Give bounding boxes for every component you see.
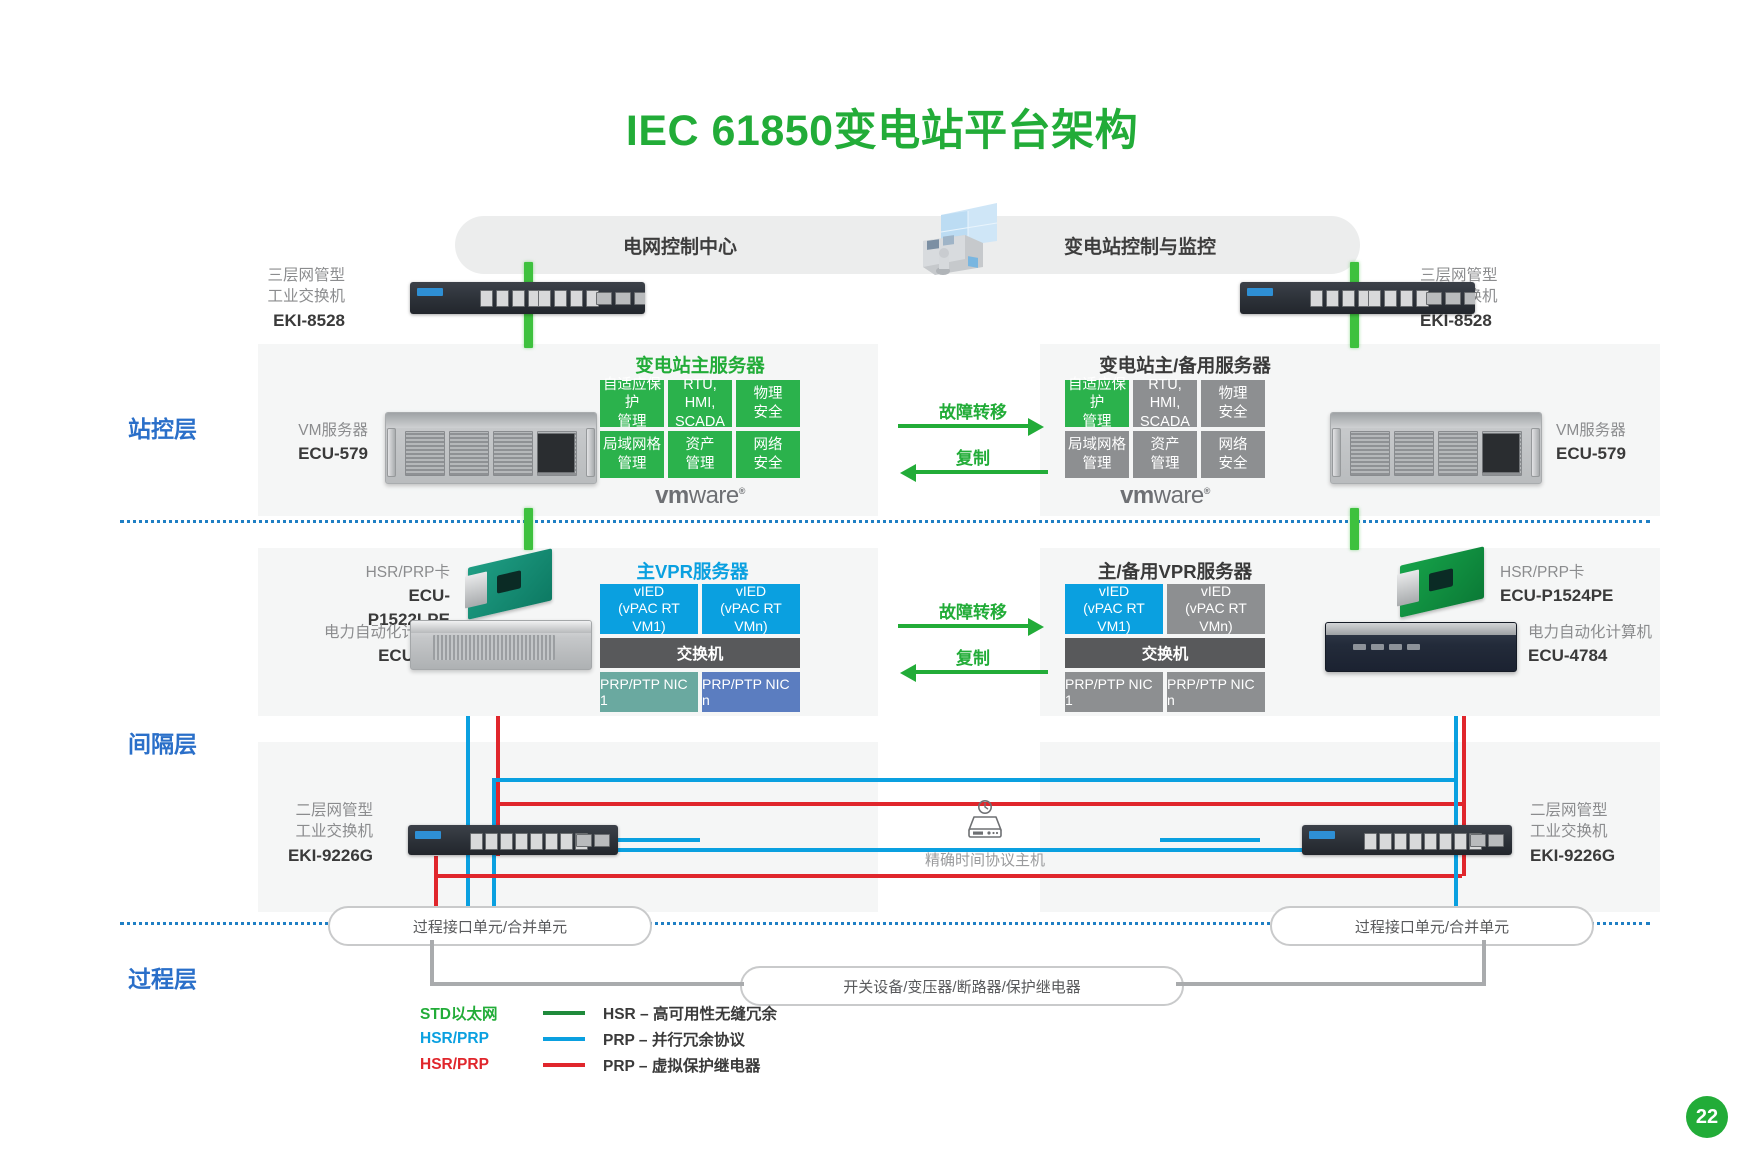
vm-server-right-model: ECU-579 bbox=[1556, 442, 1676, 465]
hsr-card-right-model: ECU-P1524PE bbox=[1500, 584, 1660, 607]
vm-server-left-model: ECU-579 bbox=[258, 442, 368, 465]
app-tile: RTU, HMI,SCADA bbox=[668, 380, 732, 427]
std-link-right-bay bbox=[1350, 508, 1359, 550]
vmware-light: ware bbox=[689, 482, 739, 509]
control-room-illustration bbox=[905, 195, 1015, 285]
server-control-panel bbox=[1482, 433, 1520, 474]
server-ecu-4784 bbox=[1325, 622, 1517, 672]
station-arrow-replicate-head bbox=[900, 464, 916, 482]
port-group-sfp bbox=[1470, 834, 1504, 847]
page-title: IEC 61850变电站平台架构 bbox=[0, 96, 1764, 158]
rack-ear-left bbox=[1332, 428, 1341, 477]
l2-switch-left-line1: 二层网管型 bbox=[295, 802, 373, 819]
vm-server-right-line1: VM服务器 bbox=[1556, 422, 1626, 439]
port-group-sfp bbox=[596, 292, 645, 305]
l2-switch-left-line2: 工业交换机 bbox=[295, 823, 373, 840]
vpr-nic-row-left: PRP/PTP NIC 1 PRP/PTP NIC n bbox=[600, 672, 800, 712]
l3-switch-left-line1: 三层网管型 bbox=[267, 267, 345, 284]
port-group-sfp bbox=[1426, 292, 1475, 305]
rack-ear-left bbox=[387, 428, 396, 477]
nic-card-ecu-p1522lpe bbox=[468, 558, 552, 610]
layer-label-bay: 间隔层 bbox=[128, 725, 258, 759]
port-group-a bbox=[1310, 290, 1371, 307]
prp-ptp-nic-n-left: PRP/PTP NIC n bbox=[702, 672, 800, 712]
vmware-logo-left: vmware® bbox=[600, 482, 800, 510]
vpr-stack-right: vIED(vPAC RT VM1) vIED(vPAC RT VMn) 交换机 … bbox=[1065, 584, 1265, 712]
vmware-light: ware bbox=[1154, 482, 1204, 509]
legend-description: HSR – 高可用性无缝冗余 bbox=[603, 1002, 777, 1024]
station-arrow-label-failover: 故障转移 bbox=[898, 398, 1048, 423]
legend-row: STD以太网HSR – 高可用性无缝冗余 bbox=[420, 1000, 777, 1026]
l2-switch-right-model: EKI-9226G bbox=[1530, 844, 1670, 867]
legend-tag: HSR/PRP bbox=[420, 1056, 525, 1074]
vmware-logo-right: vmware® bbox=[1065, 482, 1265, 510]
station-left-group-title: 变电站主服务器 bbox=[600, 352, 800, 378]
pill-connector-right-h bbox=[1176, 982, 1486, 986]
bay-left-group-title: 主VPR服务器 bbox=[585, 558, 800, 584]
pill-connector-left-v bbox=[430, 940, 434, 984]
ptp-host-label: 精确时间协议主机 bbox=[925, 849, 1045, 870]
pill-process-interface-unit-right: 过程接口单元/合并单元 bbox=[1270, 906, 1594, 946]
server-faceplate bbox=[1331, 413, 1541, 428]
app-tile: RTU, HMI,SCADA bbox=[1133, 380, 1197, 427]
label-right-vm-server: VM服务器 ECU-579 bbox=[1556, 420, 1676, 466]
vmware-bold: vm bbox=[1120, 482, 1154, 509]
server-control-panel bbox=[537, 433, 575, 474]
prp-line-blue-stub-right bbox=[1160, 838, 1260, 842]
station-arrow-replicate-line bbox=[916, 470, 1048, 474]
ventilation-grill bbox=[433, 635, 555, 660]
legend-color-swatch bbox=[543, 1063, 585, 1067]
rack-ear-right bbox=[586, 428, 595, 477]
pac-right-line1: 电力自动化计算机 bbox=[1528, 624, 1652, 641]
brand-mark bbox=[417, 288, 443, 296]
legend-description: PRP – 并行冗余协议 bbox=[603, 1028, 745, 1050]
brand-mark bbox=[415, 831, 441, 839]
app-tile: 网络安全 bbox=[736, 431, 800, 478]
app-tile: 网络安全 bbox=[1201, 431, 1265, 478]
port-group-a bbox=[470, 833, 588, 850]
bay-arrow-label-failover: 故障转移 bbox=[898, 598, 1048, 623]
pill-connector-right-v bbox=[1482, 940, 1486, 984]
port-group-b bbox=[538, 290, 599, 307]
l2-switch-left-model: EKI-9226G bbox=[258, 844, 373, 867]
prp-ptp-nic-n-right: PRP/PTP NIC n bbox=[1167, 672, 1265, 712]
switch-eki-8528-right bbox=[1240, 282, 1475, 314]
pill-switchgear-transformer: 开关设备/变压器/断路器/保护继电器 bbox=[740, 966, 1184, 1006]
port-group-a bbox=[480, 290, 541, 307]
banner-label-grid-control-center: 电网控制中心 bbox=[560, 232, 800, 259]
vied-vmn-right: vIED(vPAC RT VMn) bbox=[1167, 584, 1265, 634]
slot-bracket bbox=[1397, 569, 1419, 606]
legend-row: HSR/PRPPRP – 虚拟保护继电器 bbox=[420, 1052, 777, 1078]
server-ecu-479 bbox=[410, 620, 592, 670]
vied-vm1-right: vIED(vPAC RT VM1) bbox=[1065, 584, 1163, 634]
prp-ptp-nic-1-left: PRP/PTP NIC 1 bbox=[600, 672, 698, 712]
legend-color-swatch bbox=[543, 1037, 585, 1041]
bay-arrow-replicate-head bbox=[900, 664, 916, 682]
app-tile: 自适应保护管理 bbox=[600, 380, 664, 427]
server-lid bbox=[411, 621, 591, 633]
prp-line-right-blue-vertical bbox=[1454, 716, 1458, 928]
prp-line-red-bottom-span bbox=[434, 874, 1462, 878]
vied-vm1-left: vIED(vPAC RT VM1) bbox=[600, 584, 698, 634]
hsr-card-left-line1: HSR/PRP卡 bbox=[366, 564, 450, 581]
slot-bracket bbox=[465, 571, 487, 608]
brand-mark bbox=[1247, 288, 1273, 296]
label-left-l2-switch: 二层网管型 工业交换机 EKI-9226G bbox=[258, 800, 373, 867]
legend: STD以太网HSR – 高可用性无缝冗余HSR/PRPPRP – 并行冗余协议H… bbox=[420, 1000, 777, 1078]
label-left-vm-server: VM服务器 ECU-579 bbox=[258, 420, 368, 466]
banner-label-substation-control: 变电站控制与监控 bbox=[1010, 232, 1270, 259]
prp-line-blue-top-span bbox=[492, 778, 1454, 782]
pill-process-interface-unit-left: 过程接口单元/合并单元 bbox=[328, 906, 652, 946]
vied-vmn-left: vIED(vPAC RT VMn) bbox=[702, 584, 800, 634]
station-arrow-failover-head bbox=[1028, 418, 1044, 436]
legend-description: PRP – 虚拟保护继电器 bbox=[603, 1054, 760, 1076]
bay-arrow-label-replicate: 复制 bbox=[898, 644, 1048, 669]
port-group-b bbox=[1368, 290, 1429, 307]
bay-right-group-title: 主/备用VPR服务器 bbox=[1060, 558, 1290, 584]
vied-row: vIED(vPAC RT VM1) vIED(vPAC RT VMn) bbox=[1065, 584, 1265, 634]
app-tile: 资产管理 bbox=[668, 431, 732, 478]
ptp-host-group: 精确时间协议主机 bbox=[925, 800, 1045, 870]
legend-tag: HSR/PRP bbox=[420, 1030, 525, 1048]
vpr-switch-right: 交换机 bbox=[1065, 638, 1265, 668]
app-tile: 物理安全 bbox=[1201, 380, 1265, 427]
ptp-clock-device-icon bbox=[953, 800, 1017, 840]
port-group-a bbox=[1364, 833, 1482, 850]
app-tile: 自适应保护管理 bbox=[1065, 380, 1129, 427]
legend-color-swatch bbox=[543, 1011, 585, 1015]
l3-switch-left-model: EKI-8528 bbox=[250, 309, 345, 332]
label-right-l2-switch: 二层网管型 工业交换机 EKI-9226G bbox=[1530, 800, 1670, 867]
legend-tag: STD以太网 bbox=[420, 1002, 525, 1024]
app-tile: 局域网格管理 bbox=[1065, 431, 1129, 478]
port-group-sfp bbox=[576, 834, 610, 847]
app-tile: 物理安全 bbox=[736, 380, 800, 427]
bay-arrow-failover-head bbox=[1028, 618, 1044, 636]
vpr-nic-row-right: PRP/PTP NIC 1 PRP/PTP NIC n bbox=[1065, 672, 1265, 712]
switch-eki-9226g-left bbox=[408, 825, 618, 855]
vpr-stack-left: vIED(vPAC RT VM1) vIED(vPAC RT VMn) 交换机 … bbox=[600, 584, 800, 712]
layer-label-process: 过程层 bbox=[128, 960, 258, 994]
server-ecu-579-left bbox=[385, 412, 597, 484]
vied-row: vIED(vPAC RT VM1) vIED(vPAC RT VMn) bbox=[600, 584, 800, 634]
server-lid bbox=[1326, 623, 1516, 635]
front-indicators bbox=[1353, 644, 1420, 650]
server-faceplate bbox=[386, 413, 596, 428]
station-left-tile-grid: 自适应保护管理RTU, HMI,SCADA物理安全局域网格管理资产管理网络安全 bbox=[600, 380, 800, 478]
page-number-badge: 22 bbox=[1686, 1096, 1728, 1138]
pill-connector-left-h bbox=[430, 982, 744, 986]
vm-server-left-line1: VM服务器 bbox=[298, 422, 368, 439]
label-right-power-automation-computer: 电力自动化计算机 ECU-4784 bbox=[1528, 622, 1718, 668]
server-ecu-579-right bbox=[1330, 412, 1542, 484]
std-link-left-bay bbox=[524, 508, 533, 550]
vpr-switch-left: 交换机 bbox=[600, 638, 800, 668]
prp-line-left-blue-vertical bbox=[466, 716, 470, 928]
legend-row: HSR/PRPPRP – 并行冗余协议 bbox=[420, 1026, 777, 1052]
app-tile: 资产管理 bbox=[1133, 431, 1197, 478]
station-right-group-title: 变电站主/备用服务器 bbox=[1065, 352, 1305, 378]
vmware-bold: vm bbox=[655, 482, 689, 509]
hsr-card-right-line1: HSR/PRP卡 bbox=[1500, 564, 1584, 581]
station-right-tile-grid: 自适应保护管理RTU, HMI,SCADA物理安全局域网格管理资产管理网络安全 bbox=[1065, 380, 1265, 478]
switch-eki-8528-left bbox=[410, 282, 645, 314]
bay-arrow-replicate-line bbox=[916, 670, 1048, 674]
label-right-hsr-prp-card: HSR/PRP卡 ECU-P1524PE bbox=[1500, 562, 1660, 608]
app-tile: 局域网格管理 bbox=[600, 431, 664, 478]
l2-switch-right-line1: 二层网管型 bbox=[1530, 802, 1608, 819]
rack-ear-right bbox=[1531, 428, 1540, 477]
switch-eki-9226g-right bbox=[1302, 825, 1512, 855]
nic-card-ecu-p1524pe bbox=[1400, 556, 1484, 608]
prp-ptp-nic-1-right: PRP/PTP NIC 1 bbox=[1065, 672, 1163, 712]
layer-label-station: 站控层 bbox=[128, 410, 258, 444]
station-arrow-label-replicate: 复制 bbox=[898, 444, 1048, 469]
bay-arrow-failover-line bbox=[898, 624, 1030, 628]
station-arrow-failover-line bbox=[898, 424, 1030, 428]
brand-mark bbox=[1309, 831, 1335, 839]
l2-switch-right-line2: 工业交换机 bbox=[1530, 823, 1608, 840]
pac-right-model: ECU-4784 bbox=[1528, 644, 1718, 667]
layer-separator-station-bay bbox=[120, 520, 1650, 523]
l3-switch-left-line2: 工业交换机 bbox=[267, 288, 345, 305]
label-left-l3-switch: 三层网管型 工业交换机 EKI-8528 bbox=[250, 265, 345, 332]
